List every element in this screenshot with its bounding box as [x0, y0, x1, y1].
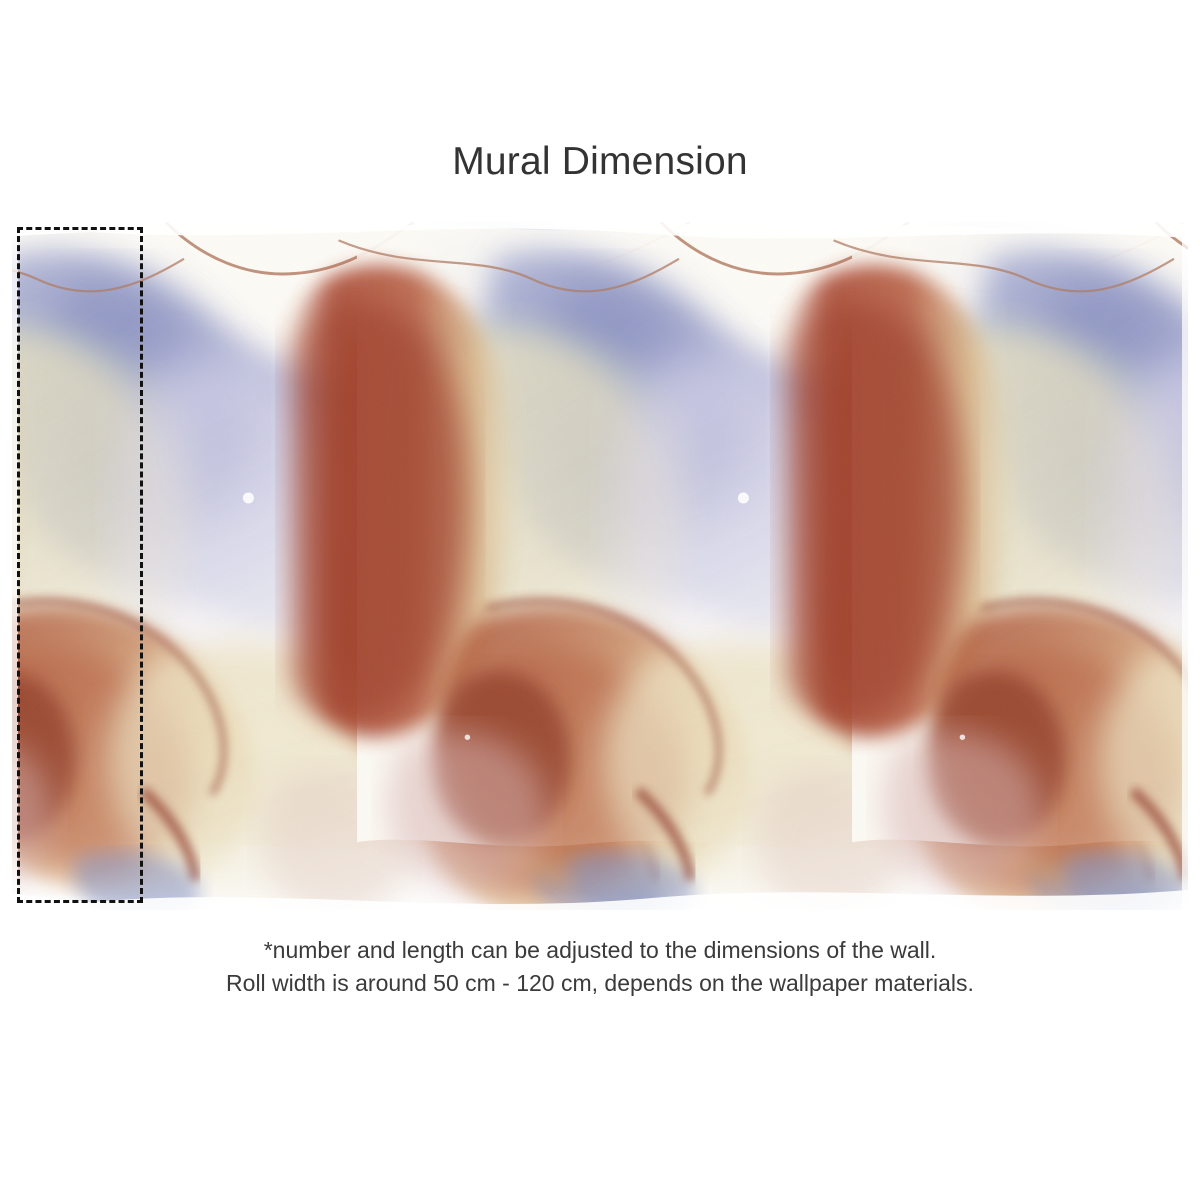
mural-watercolor-svg — [12, 222, 1188, 910]
mural-artwork — [12, 222, 1188, 910]
footer-note-line-1: *number and length can be adjusted to th… — [0, 934, 1200, 967]
page-root: Mural Dimension — [0, 0, 1200, 1200]
page-title: Mural Dimension — [0, 139, 1200, 186]
footer-note: *number and length can be adjusted to th… — [0, 934, 1200, 1001]
footer-note-line-2: Roll width is around 50 cm - 120 cm, dep… — [0, 967, 1200, 1000]
